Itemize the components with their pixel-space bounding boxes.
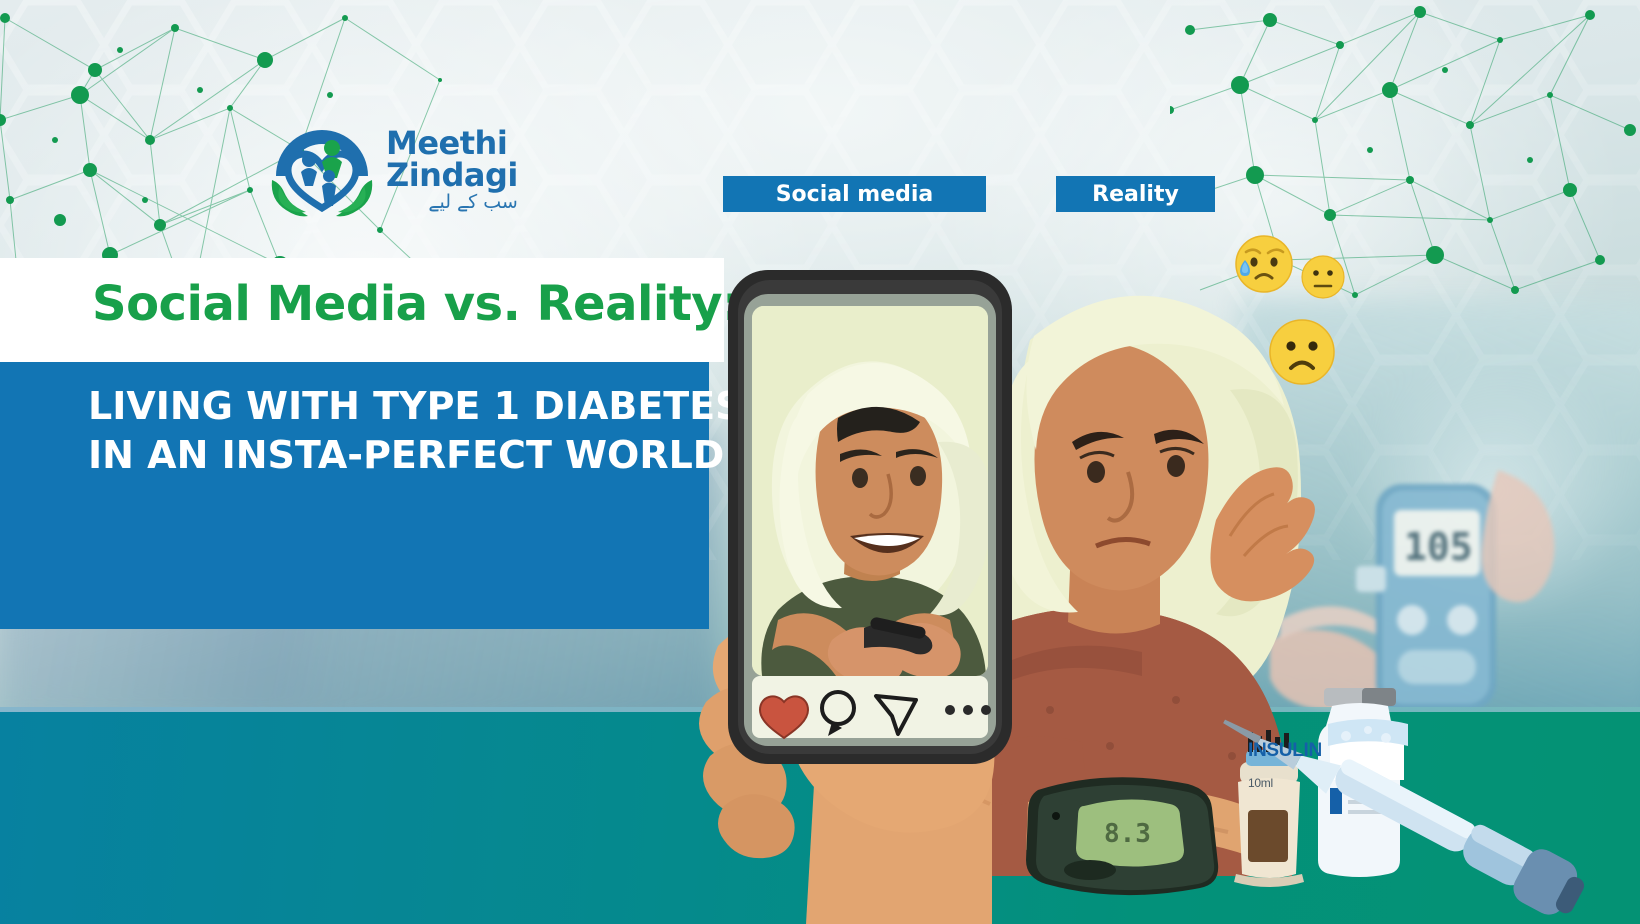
brand-name: Meethi Zindagi سب کے لیے — [386, 128, 518, 211]
insulin-vial-label: INSULIN — [1248, 740, 1322, 762]
insulin-vial-volume: 10ml — [1248, 776, 1273, 790]
brand-name-line2: Zindagi — [386, 160, 518, 191]
frowning-face-emoji — [1266, 316, 1338, 388]
neutral-face-emoji — [1300, 254, 1346, 300]
glucose-meter-icon: 8.3 — [1026, 777, 1218, 895]
svg-text:8.3: 8.3 — [1104, 819, 1151, 849]
brand-logo[interactable]: Meethi Zindagi سب کے لیے — [268, 122, 518, 218]
infographic-banner: 105 — [0, 0, 1640, 924]
crying-sad-face-emoji — [1232, 232, 1296, 296]
brand-tagline-urdu: سب کے لیے — [386, 193, 518, 212]
smartphone-mockup — [728, 270, 1012, 764]
phone-photo-smiling-woman — [752, 306, 991, 684]
more-dots-icon[interactable] — [945, 705, 991, 715]
heart-hands-family-logo-icon — [268, 122, 376, 218]
brand-name-line1: Meethi — [386, 128, 518, 159]
illustration-woman-with-phone: 8.3 — [620, 190, 1640, 924]
